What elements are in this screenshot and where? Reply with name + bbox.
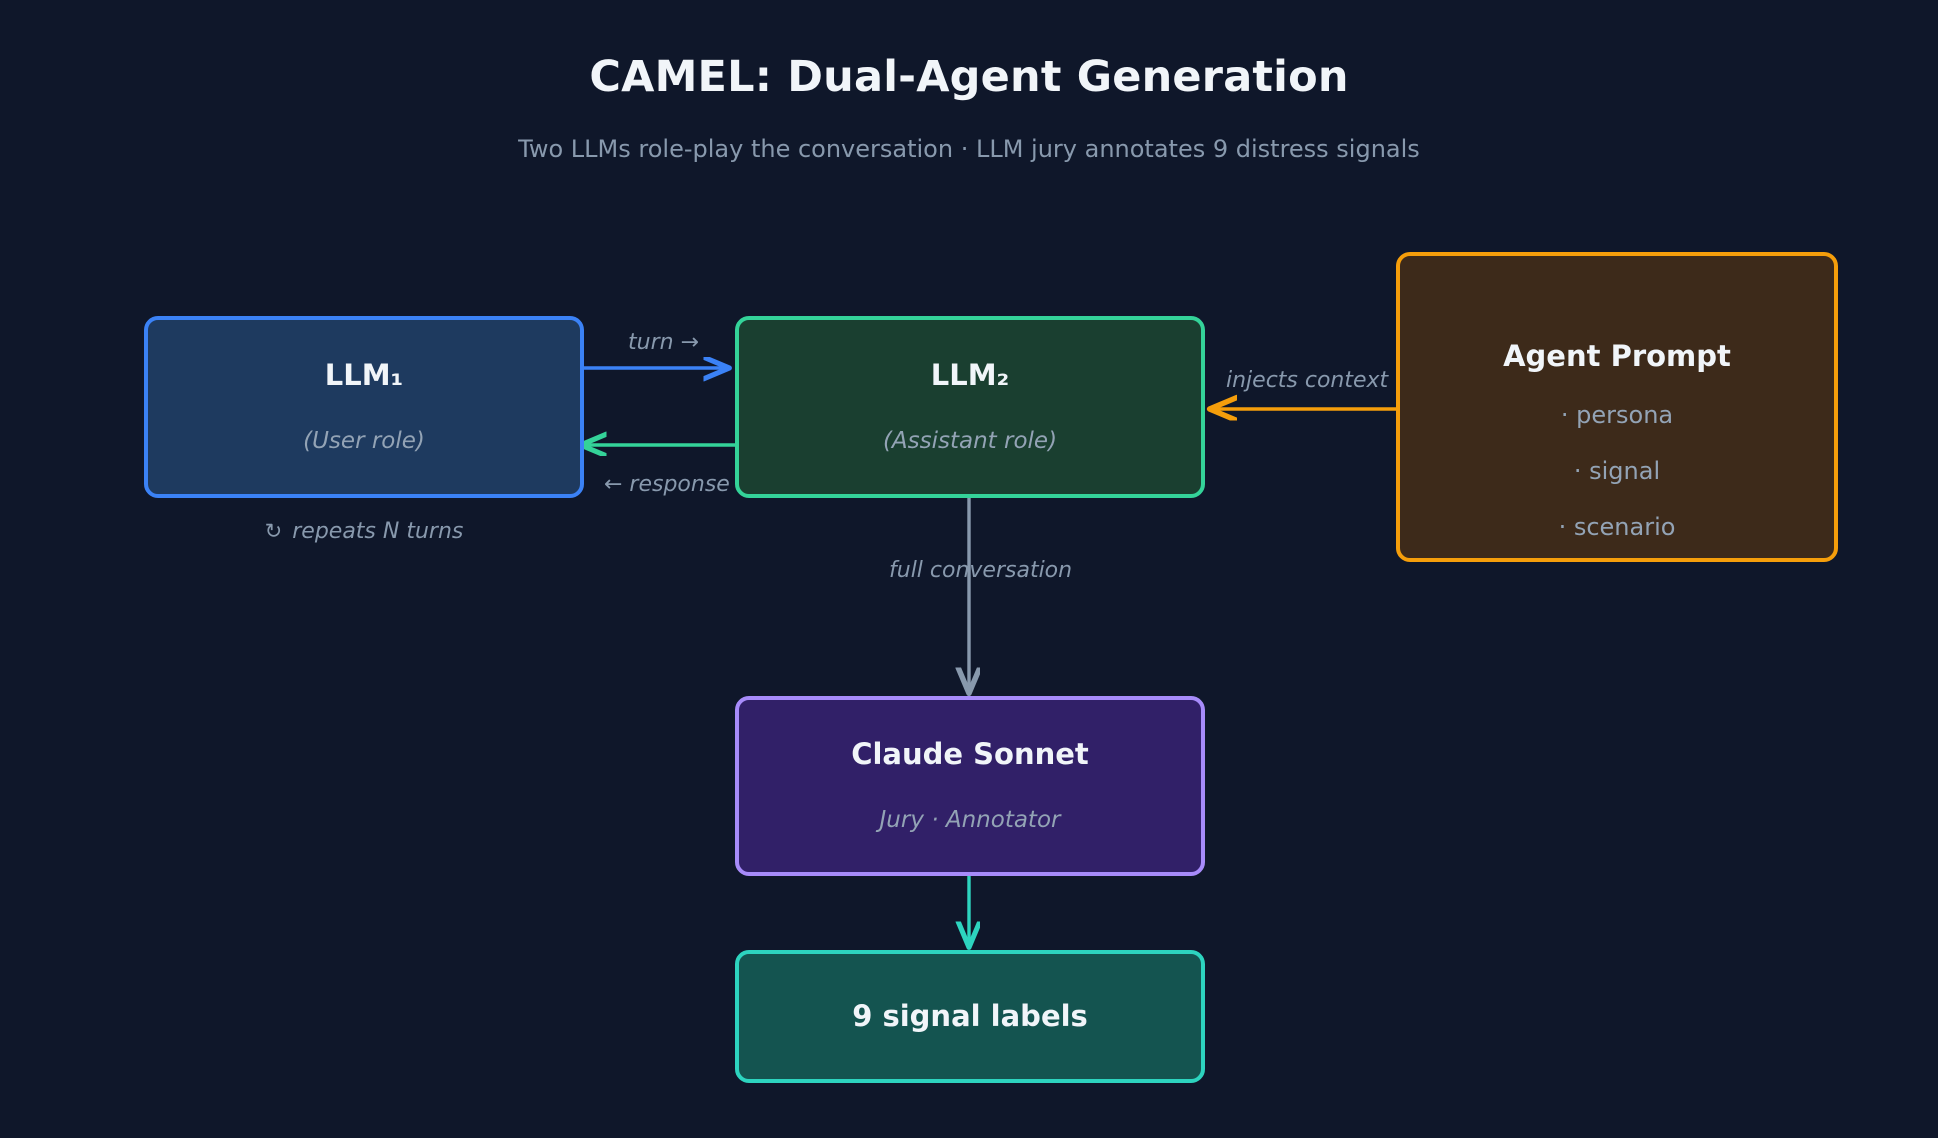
- node-llm2-sublabel: (Assistant role): [883, 428, 1057, 454]
- node-llm1[interactable]: LLM₁ (User role): [144, 316, 584, 498]
- node-llm2-label: LLM₂: [931, 360, 1010, 392]
- diagram-canvas: CAMEL: Dual-Agent Generation Two LLMs ro…: [0, 0, 1938, 1138]
- edge-label-full-conversation: full conversation: [889, 558, 1072, 583]
- repeats-note-label: repeats N turns: [292, 519, 463, 544]
- node-llm2[interactable]: LLM₂ (Assistant role): [735, 316, 1205, 498]
- agent-prompt-item-signal: · signal: [1400, 457, 1834, 485]
- edge-label-turn: turn →: [628, 330, 699, 355]
- node-claude-sonnet-sublabel: Jury · Annotator: [880, 807, 1061, 833]
- node-agent-prompt-label: Agent Prompt: [1400, 339, 1834, 373]
- node-signal-labels-label: 9 signal labels: [852, 1001, 1088, 1033]
- repeat-icon: ↻: [265, 519, 283, 543]
- repeats-note: ↻repeats N turns: [144, 519, 584, 544]
- node-llm1-label: LLM₁: [325, 360, 404, 392]
- node-agent-prompt[interactable]: Agent Prompt · persona · signal · scenar…: [1396, 252, 1838, 562]
- agent-prompt-item-scenario: · scenario: [1400, 513, 1834, 541]
- node-signal-labels[interactable]: 9 signal labels: [735, 950, 1205, 1083]
- edge-label-injects-context: injects context: [1226, 368, 1388, 393]
- edge-label-response: ← response: [604, 472, 730, 497]
- node-llm1-sublabel: (User role): [303, 428, 425, 454]
- node-claude-sonnet[interactable]: Claude Sonnet Jury · Annotator: [735, 696, 1205, 876]
- agent-prompt-item-persona: · persona: [1400, 401, 1834, 429]
- node-claude-sonnet-label: Claude Sonnet: [851, 739, 1089, 771]
